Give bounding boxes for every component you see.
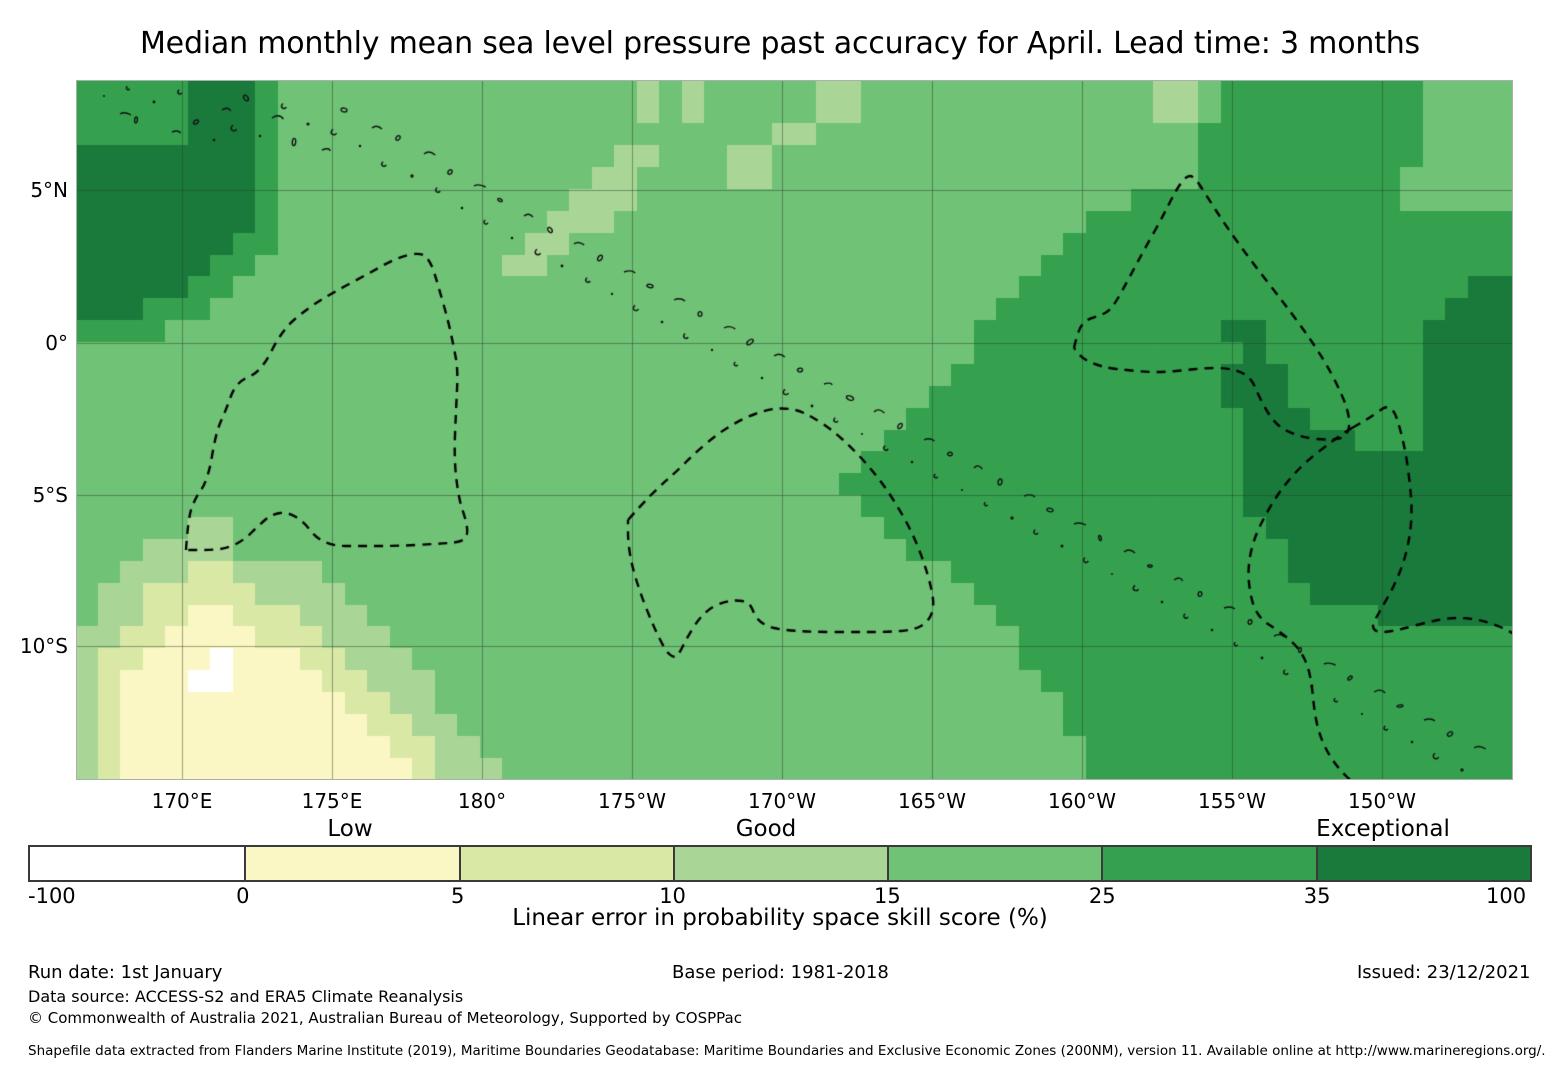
map-plot-area <box>76 80 1513 780</box>
colorbar-category-label: Exceptional <box>1316 816 1450 842</box>
latitude-tick-label: 5°S <box>33 483 68 507</box>
eez-boundary-canvas <box>76 80 1513 780</box>
run-date-text: Run date: 1st January <box>28 962 222 983</box>
colorbar-separator <box>459 847 461 880</box>
colorbar-separator <box>673 847 675 880</box>
colorbar <box>28 845 1532 882</box>
issued-date-text: Issued: 23/12/2021 <box>1357 962 1531 983</box>
colorbar-separator <box>887 847 889 880</box>
longitude-tick-label: 155°W <box>1198 789 1266 813</box>
data-source-text: Data source: ACCESS-S2 and ERA5 Climate … <box>28 987 463 1006</box>
shapefile-attribution-text: Shapefile data extracted from Flanders M… <box>28 1043 1546 1059</box>
colorbar-band <box>459 847 673 880</box>
latitude-tick-label: 0° <box>45 331 68 355</box>
colorbar-label: Linear error in probability space skill … <box>0 905 1560 931</box>
colorbar-band <box>887 847 1101 880</box>
colorbar-band <box>1316 847 1530 880</box>
longitude-tick-label: 150°W <box>1348 789 1416 813</box>
colorbar-band <box>1101 847 1315 880</box>
colorbar-separator <box>1316 847 1318 880</box>
latitude-tick-label: 10°S <box>20 634 68 658</box>
longitude-tick-label: 175°E <box>302 789 363 813</box>
longitude-tick-label: 170°W <box>748 789 816 813</box>
colorbar-band <box>30 847 244 880</box>
colorbar-separator <box>244 847 246 880</box>
copyright-text: © Commonwealth of Australia 2021, Austra… <box>28 1009 742 1027</box>
colorbar-band <box>244 847 458 880</box>
colorbar-band <box>673 847 887 880</box>
longitude-tick-label: 170°E <box>152 789 213 813</box>
longitude-tick-label: 180° <box>458 789 506 813</box>
colorbar-separator <box>1101 847 1103 880</box>
colorbar-category-label: Good <box>736 816 797 842</box>
longitude-tick-label: 160°W <box>1048 789 1116 813</box>
page-title: Median monthly mean sea level pressure p… <box>0 26 1560 61</box>
longitude-tick-label: 175°W <box>598 789 666 813</box>
colorbar-category-label: Low <box>327 816 372 842</box>
base-period-text: Base period: 1981-2018 <box>672 962 889 983</box>
longitude-tick-label: 165°W <box>898 789 966 813</box>
latitude-tick-label: 5°N <box>30 178 68 202</box>
